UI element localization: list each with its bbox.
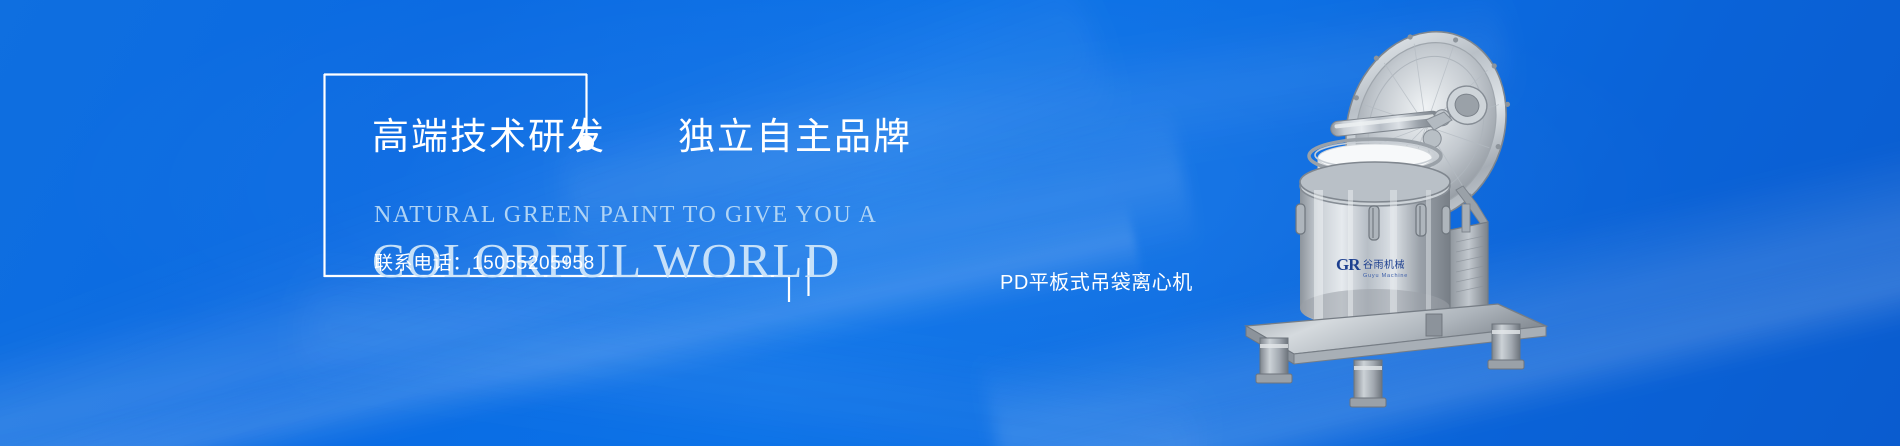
headline: 高端技术研发 独立自主品牌 xyxy=(372,118,912,155)
machine-foot xyxy=(1426,314,1442,336)
promo-banner: 高端技术研发 独立自主品牌 NATURAL GREEN PAINT TO GIV… xyxy=(0,0,1900,446)
headline-left: 高端技术研发 xyxy=(372,118,606,155)
machine-foot xyxy=(1488,324,1524,369)
contact-phone: 联系电话：15055205958 xyxy=(374,248,595,275)
svg-text:Guyu Machine: Guyu Machine xyxy=(1363,273,1408,279)
svg-text:GR: GR xyxy=(1336,255,1361,274)
subtitle-english: NATURAL GREEN PAINT TO GIVE YOU A xyxy=(374,202,877,229)
svg-text:谷雨机械: 谷雨机械 xyxy=(1363,258,1405,271)
product-name-label: PD平板式吊袋离心机 xyxy=(1000,266,1193,295)
headline-right: 独立自主品牌 xyxy=(678,118,912,155)
machine-foot xyxy=(1256,338,1292,383)
machine-foot xyxy=(1350,360,1386,407)
decorative-frame xyxy=(0,0,1900,446)
product-photo-centrifuge: GR 谷雨机械 Guyu Machine xyxy=(1230,8,1590,438)
